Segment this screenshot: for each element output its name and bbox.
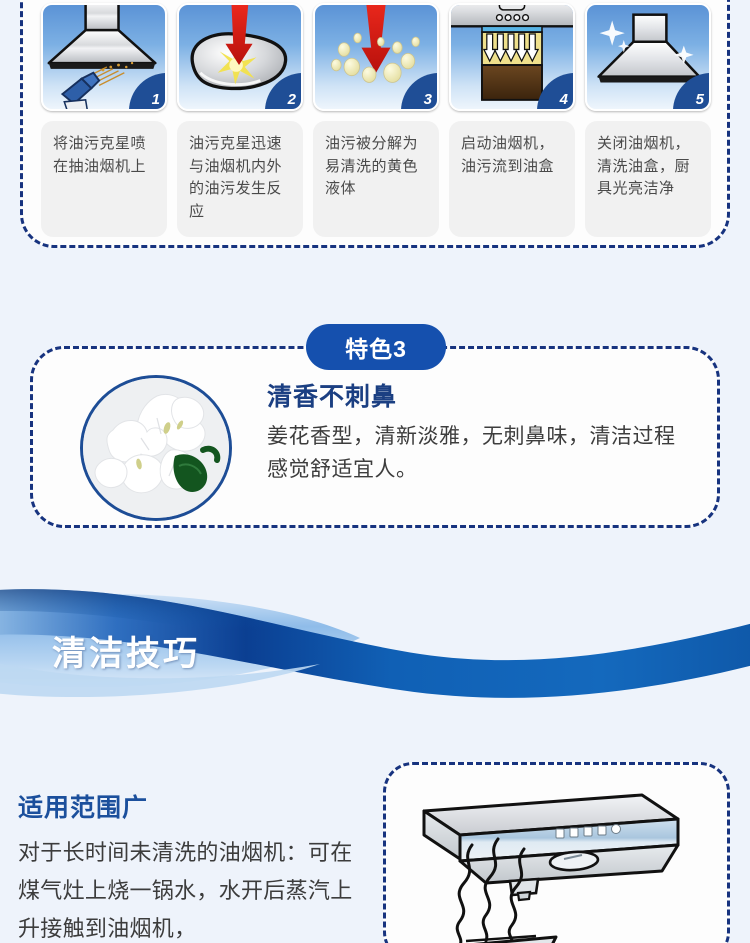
wave-banner-title: 清洁技巧 [52,626,200,675]
scope-title: 适用范围广 [18,788,368,824]
step-tile-1: 1 [41,3,167,111]
step-caption-5: 关闭油烟机，清洗油盒，厨具光亮洁净 [585,121,711,237]
step-icons-row: 1 [41,3,715,113]
step-caption-4: 启动油烟机，油污流到油盒 [449,121,575,237]
step-caption-2: 油污克星迅速与油烟机内外的油污发生反应 [177,121,303,237]
white-ginger-flower-photo [83,378,229,518]
step-tile-4: 4 [449,3,575,111]
step-caption-3: 油污被分解为易清洗的黄色液体 [313,121,439,237]
step-tile-5: 5 [585,3,711,111]
feature-panel: 清香不刺鼻 姜花香型，清新淡雅，无刺鼻味，清洁过程感觉舒适宜人。 [30,346,720,528]
range-hood-with-steaming-pot-drawing [406,789,706,943]
feature-badge: 特色3 [306,324,446,370]
feature-body: 姜花香型，清新淡雅，无刺鼻味，清洁过程感觉舒适宜人。 [267,421,691,486]
feature-title: 清香不刺鼻 [267,377,691,413]
step-tile-3: 3 [313,3,439,111]
scope-body: 对于长时间未清洗的油烟机：可在煤气灶上烧一锅水，水开后蒸汽上升接触到油烟机， [18,834,368,943]
flower-image [80,375,232,521]
scope-illustration-panel [383,762,730,943]
usage-steps-panel: 1 [20,0,730,248]
step-tile-2: 2 [177,3,303,111]
scope-text-block: 适用范围广 对于长时间未清洗的油烟机：可在煤气灶上烧一锅水，水开后蒸汽上升接触到… [18,788,368,943]
feature-text-block: 清香不刺鼻 姜花香型，清新淡雅，无刺鼻味，清洁过程感觉舒适宜人。 [267,377,691,486]
product-detail-page: 1 [0,0,750,943]
step-captions-row: 将油污克星喷在抽油烟机上 油污克星迅速与油烟机内外的油污发生反应 油污被分解为易… [41,121,715,237]
step-caption-1: 将油污克星喷在抽油烟机上 [41,121,167,237]
